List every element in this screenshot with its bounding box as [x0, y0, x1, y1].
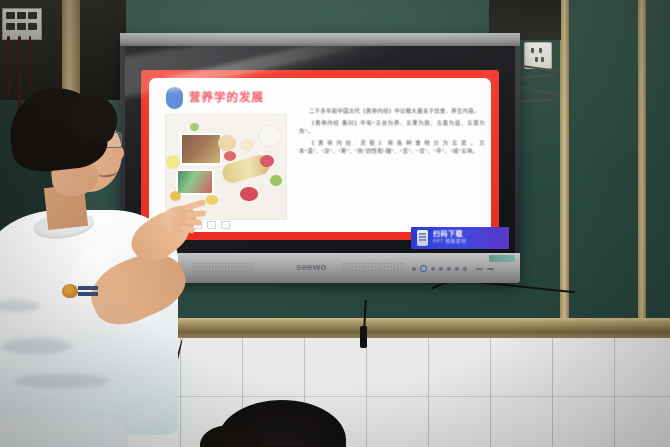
button-menu[interactable]: [420, 265, 427, 272]
pointing-hand: [160, 198, 204, 234]
slide-body-text: 二千多年前中国古代《黄帝内经》中记载大量关于饮食、养生内容。 《黄帝内经·素问》…: [299, 108, 485, 160]
speaker-grille-right: [342, 262, 404, 274]
button-back[interactable]: [463, 267, 467, 271]
button-bar-2[interactable]: [487, 268, 494, 270]
button-vol-down[interactable]: [439, 267, 443, 271]
wooden-board-frame: [560, 0, 569, 332]
outlet-cable-3: [29, 36, 31, 86]
wooden-board-frame-outer: [638, 0, 646, 332]
presenter-shorts: [0, 418, 128, 447]
presenter-nose: [112, 146, 124, 160]
button-power[interactable]: [412, 267, 416, 271]
panel-button-row[interactable]: [412, 265, 494, 272]
document-icon: [417, 230, 428, 246]
toolbar-icon-5[interactable]: [221, 221, 230, 229]
shirt-chest-logo: [56, 284, 98, 314]
presenter-mouth: [97, 167, 118, 179]
slide-paragraph-1: 二千多年前中国古代《黄帝内经》中记载大量关于饮食、养生内容。: [299, 108, 485, 117]
button-bar-1[interactable]: [476, 268, 483, 270]
classroom-photo: 营养学的发展: [0, 0, 670, 447]
download-watermark-badge[interactable]: 扫码下载 PPT 模板素材: [411, 227, 509, 249]
slide-paragraph-3: 《黄帝内经·灵枢》将各种食物分为五类，又本“温”、“凉”、“寒”、“热”四性和“…: [299, 140, 485, 157]
slide-paragraph-2: 《黄帝内经·素问》中有“五谷为养、五果为助、五畜为益、五菜为充”。: [299, 120, 485, 137]
presenter: [0, 88, 204, 447]
button-source[interactable]: [431, 267, 435, 271]
watermark-title: 扫码下载: [433, 231, 466, 238]
cable-plug: [360, 326, 367, 348]
watermark-subtitle: PPT 模板素材: [433, 240, 466, 245]
panel-top-bezel: [120, 33, 520, 46]
toolbar-icon-4[interactable]: [207, 221, 216, 229]
button-vol-up[interactable]: [447, 267, 451, 271]
io-port-label: [489, 255, 515, 262]
button-home[interactable]: [455, 267, 459, 271]
seewo-logo: seewo: [296, 263, 326, 273]
